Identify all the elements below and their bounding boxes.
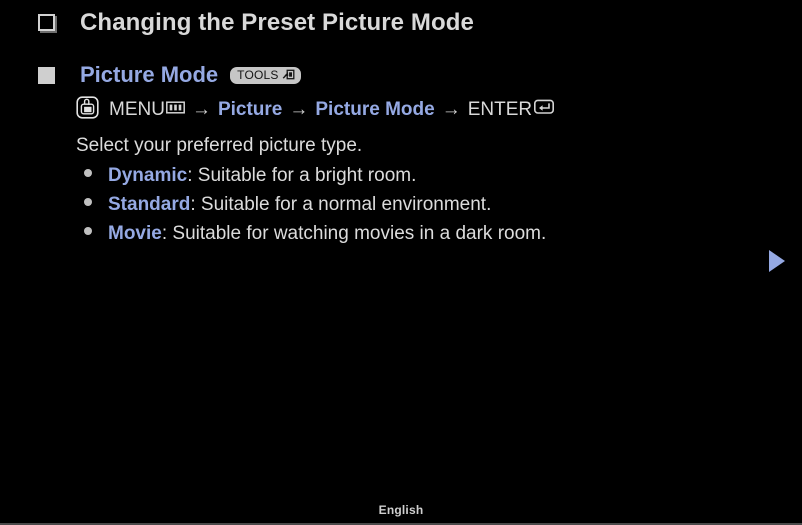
section-title: Picture Mode bbox=[80, 62, 218, 88]
picture-mode-options-list: Dynamic: Suitable for a bright room. Sta… bbox=[76, 164, 756, 251]
bullet-dot-icon bbox=[84, 198, 92, 206]
list-item-separator: : bbox=[190, 194, 201, 215]
menu-path-row: MENU → Picture → Picture Mode → ENTER bbox=[76, 96, 555, 124]
menu-path-segment-enter: ENTER bbox=[468, 98, 532, 122]
emanual-page: Changing the Preset Picture Mode Picture… bbox=[0, 0, 802, 525]
list-item-term: Dynamic bbox=[108, 165, 187, 186]
list-item: Movie: Suitable for watching movies in a… bbox=[76, 222, 756, 251]
menu-path-segment-picture: Picture bbox=[218, 98, 282, 122]
footer-language-label: English bbox=[0, 503, 802, 517]
filled-square-bullet-icon bbox=[38, 67, 55, 84]
list-item: Dynamic: Suitable for a bright room. bbox=[76, 164, 756, 193]
list-item-term: Movie bbox=[108, 223, 162, 244]
list-item: Standard: Suitable for a normal environm… bbox=[76, 193, 756, 222]
list-item-description: Suitable for watching movies in a dark r… bbox=[172, 223, 546, 244]
list-item-body: Standard: Suitable for a normal environm… bbox=[108, 193, 491, 217]
menu-path-text: MENU → Picture → Picture Mode → ENTER bbox=[109, 98, 555, 122]
intro-text: Select your preferred picture type. bbox=[76, 134, 362, 158]
list-item-separator: : bbox=[187, 165, 198, 186]
list-item-term: Standard bbox=[108, 194, 190, 215]
section-header-row: Picture Mode TOOLS bbox=[38, 62, 301, 88]
tools-badge[interactable]: TOOLS bbox=[230, 67, 300, 84]
list-item-body: Movie: Suitable for watching movies in a… bbox=[108, 222, 546, 246]
menu-path-segment-menu: MENU bbox=[109, 98, 165, 122]
menu-path-arrow-2: → bbox=[282, 98, 315, 122]
list-item-body: Dynamic: Suitable for a bright room. bbox=[108, 164, 416, 188]
list-item-separator: : bbox=[162, 223, 173, 244]
hollow-square-bullet-icon bbox=[38, 14, 55, 31]
menu-bars-icon bbox=[166, 98, 185, 122]
menu-path-arrow-3: → bbox=[435, 98, 468, 122]
arrow-into-box-icon bbox=[282, 68, 295, 81]
enter-return-icon bbox=[534, 98, 555, 122]
list-item-description: Suitable for a bright room. bbox=[198, 165, 417, 186]
page-title: Changing the Preset Picture Mode bbox=[80, 8, 474, 38]
menu-path-arrow-1: → bbox=[185, 98, 218, 122]
page-heading-row: Changing the Preset Picture Mode bbox=[38, 8, 474, 38]
bullet-dot-icon bbox=[84, 169, 92, 177]
menu-path-segment-picture-mode: Picture Mode bbox=[315, 98, 434, 122]
next-page-arrow-icon[interactable] bbox=[769, 250, 785, 272]
list-item-description: Suitable for a normal environment. bbox=[201, 194, 491, 215]
bullet-dot-icon bbox=[84, 227, 92, 235]
tools-badge-label: TOOLS bbox=[237, 68, 278, 82]
hand-press-button-icon bbox=[76, 96, 99, 124]
